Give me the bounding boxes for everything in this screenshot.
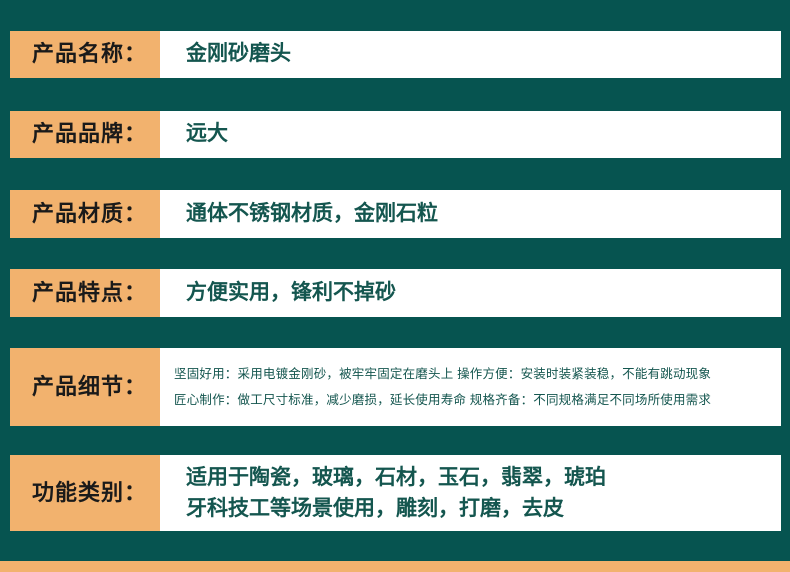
spec-detail-line-1: 坚固好用：采用电镀金刚砂，被牢牢固定在磨头上 操作方便：安装时装紧装稳，不能有跳…	[174, 361, 775, 387]
spec-category-line-1: 适用于陶瓷，玻璃，石材，玉石，翡翠，琥珀	[186, 462, 771, 494]
spec-value-product-name: 金刚砂磨头	[160, 31, 781, 78]
spec-value-product-feature: 方便实用，锋利不掉砂	[160, 269, 781, 317]
spec-row-product-feature: 产品特点： 方便实用，锋利不掉砂	[10, 269, 781, 317]
spec-row-product-brand: 产品品牌： 远大	[10, 111, 781, 158]
spec-label-function-category: 功能类别：	[10, 455, 160, 531]
spec-detail-line-2: 匠心制作：做工尺寸标准，减少磨损，延长使用寿命 规格齐备：不同规格满足不同场所使…	[174, 387, 775, 413]
spec-value-product-material: 通体不锈钢材质，金刚石粒	[160, 190, 781, 238]
spec-row-product-name: 产品名称： 金刚砂磨头	[10, 31, 781, 78]
spec-label-product-material: 产品材质：	[10, 190, 160, 238]
product-spec-sheet: 产品名称： 金刚砂磨头 产品品牌： 远大 产品材质： 通体不锈钢材质，金刚石粒 …	[0, 0, 790, 572]
spec-label-product-detail: 产品细节：	[10, 348, 160, 426]
spec-label-product-brand: 产品品牌：	[10, 111, 160, 158]
spec-value-function-category: 适用于陶瓷，玻璃，石材，玉石，翡翠，琥珀 牙科技工等场景使用，雕刻，打磨，去皮	[160, 455, 781, 531]
bottom-accent-bar	[0, 561, 790, 572]
spec-row-function-category: 功能类别： 适用于陶瓷，玻璃，石材，玉石，翡翠，琥珀 牙科技工等场景使用，雕刻，…	[10, 455, 781, 531]
spec-value-product-brand: 远大	[160, 111, 781, 158]
spec-label-product-name: 产品名称：	[10, 31, 160, 78]
spec-label-product-feature: 产品特点：	[10, 269, 160, 317]
spec-row-product-detail: 产品细节： 坚固好用：采用电镀金刚砂，被牢牢固定在磨头上 操作方便：安装时装紧装…	[10, 348, 781, 426]
spec-row-product-material: 产品材质： 通体不锈钢材质，金刚石粒	[10, 190, 781, 238]
spec-value-product-detail: 坚固好用：采用电镀金刚砂，被牢牢固定在磨头上 操作方便：安装时装紧装稳，不能有跳…	[160, 348, 781, 426]
spec-category-line-2: 牙科技工等场景使用，雕刻，打磨，去皮	[186, 493, 771, 525]
